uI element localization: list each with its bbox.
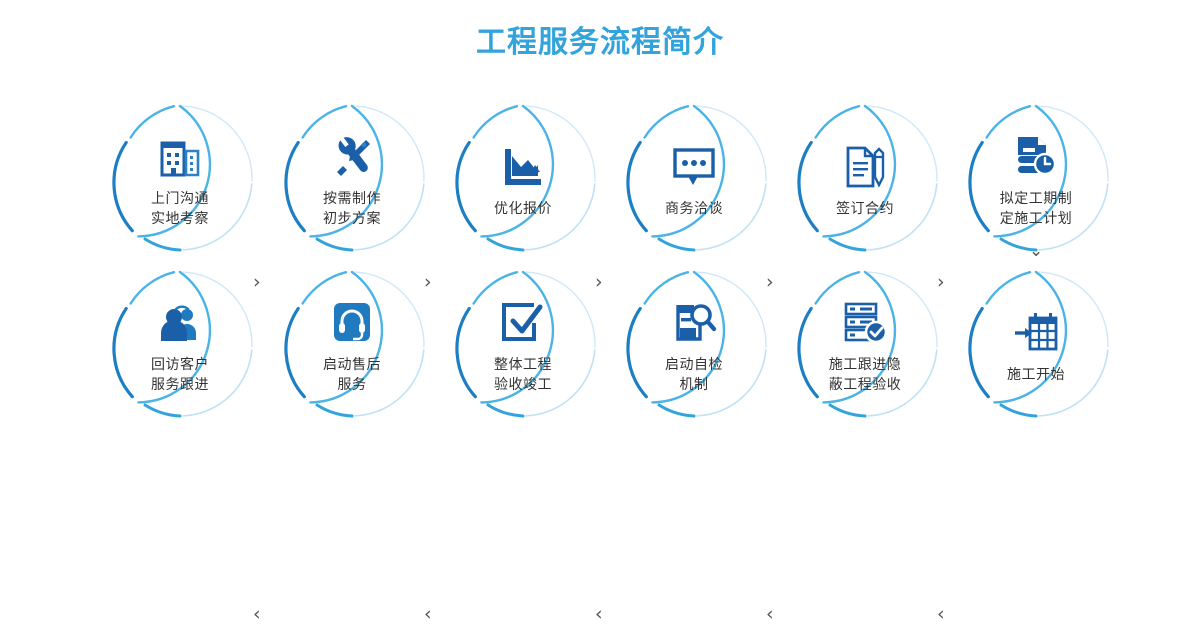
flow-node-4[interactable]: 商务洽谈: [618, 102, 770, 254]
contract-pen-icon: [838, 142, 892, 192]
flow-node-label-line1: 上门沟通: [151, 188, 209, 208]
flow-node-content: 拟定工期制 定施工计划: [960, 102, 1112, 254]
flow-node-label-line1: 商务洽谈: [665, 198, 723, 218]
flow-node-content: 回访客户 服务跟进: [104, 268, 256, 420]
server-check-icon: [838, 298, 892, 348]
checkbox-check-icon: [496, 298, 550, 348]
flow-node-8[interactable]: 施工跟进隐 蔽工程验收: [789, 268, 941, 420]
flow-node-label-line1: 启动自检: [665, 354, 723, 374]
flow-node-content: 施工开始: [960, 268, 1112, 420]
flow-connector-chevron-6: ‹: [253, 605, 261, 624]
flow-node-label-line1: 签订合约: [836, 198, 894, 218]
flow-node-content: 商务洽谈: [618, 102, 770, 254]
process-flow-infographic: 工程服务流程简介: [0, 0, 1200, 440]
flow-node-label-line2: 蔽工程验收: [829, 374, 902, 394]
flow-row-bottom: 回访客户 服务跟进: [0, 268, 1200, 428]
flow-node-label-line2: 服务跟进: [151, 374, 209, 394]
flow-node-2[interactable]: 按需制作 初步方案: [276, 102, 428, 254]
flow-node-label-line1: 整体工程: [494, 354, 552, 374]
two-people-icon: [153, 298, 207, 348]
flow-connector-chevron-vertical: ⌄: [1029, 243, 1043, 260]
flow-node-6[interactable]: 拟定工期制 定施工计划: [960, 102, 1112, 254]
flow-node-label-line2: 服务: [338, 374, 367, 394]
flow-node-content: 施工跟进隐 蔽工程验收: [789, 268, 941, 420]
flow-node-10[interactable]: 整体工程 验收竣工: [447, 268, 599, 420]
calendar-start-icon: [1009, 308, 1063, 358]
flow-node-content: 启动自检 机制: [618, 268, 770, 420]
flow-node-label-line1: 优化报价: [494, 198, 552, 218]
flow-node-3[interactable]: 优化报价: [447, 102, 599, 254]
flow-node-9[interactable]: 启动自检 机制: [618, 268, 770, 420]
page-title: 工程服务流程简介: [0, 22, 1200, 64]
flow-node-content: 按需制作 初步方案: [276, 102, 428, 254]
flow-node-label-line2: 实地考察: [151, 208, 209, 228]
flow-node-label-line2: 定施工计划: [1000, 208, 1073, 228]
flow-connector-chevron-7: ‹: [424, 605, 432, 624]
flow-node-content: 上门沟通 实地考察: [104, 102, 256, 254]
document-clock-icon: [1009, 132, 1063, 182]
flow-node-5[interactable]: 签订合约: [789, 102, 941, 254]
flow-connector-chevron-9: ‹: [766, 605, 774, 624]
flow-node-label-line2: 机制: [680, 374, 709, 394]
flow-connector-chevron-10: ‹: [937, 605, 945, 624]
flow-node-label-line2: 初步方案: [323, 208, 381, 228]
flow-connector-chevron-8: ‹: [595, 605, 603, 624]
flow-node-content: 签订合约: [789, 102, 941, 254]
flow-node-12[interactable]: 回访客户 服务跟进: [104, 268, 256, 420]
flow-node-1[interactable]: 上门沟通 实地考察: [104, 102, 256, 254]
flow-node-label-line2: 验收竣工: [494, 374, 552, 394]
flow-node-label-line1: 施工跟进隐: [829, 354, 902, 374]
flow-node-label-line1: 启动售后: [323, 354, 381, 374]
flow-node-label-line1: 拟定工期制: [1000, 188, 1073, 208]
declining-chart-icon: [496, 142, 550, 192]
headset-support-icon: [325, 298, 379, 348]
flow-node-content: 优化报价: [447, 102, 599, 254]
wrench-screwdriver-icon: [325, 132, 379, 182]
flow-node-label-line1: 按需制作: [323, 188, 381, 208]
flow-node-label-line1: 回访客户: [151, 354, 209, 374]
flow-node-7[interactable]: 施工开始: [960, 268, 1112, 420]
flow-node-label-line1: 施工开始: [1007, 364, 1065, 384]
flow-node-11[interactable]: 启动售后 服务: [276, 268, 428, 420]
office-building-icon: [153, 132, 207, 182]
flow-row-top: 上门沟通 实地考察: [0, 102, 1200, 262]
document-magnifier-icon: [667, 298, 721, 348]
speech-bubble-icon: [667, 142, 721, 192]
flow-node-content: 整体工程 验收竣工: [447, 268, 599, 420]
flow-node-content: 启动售后 服务: [276, 268, 428, 420]
